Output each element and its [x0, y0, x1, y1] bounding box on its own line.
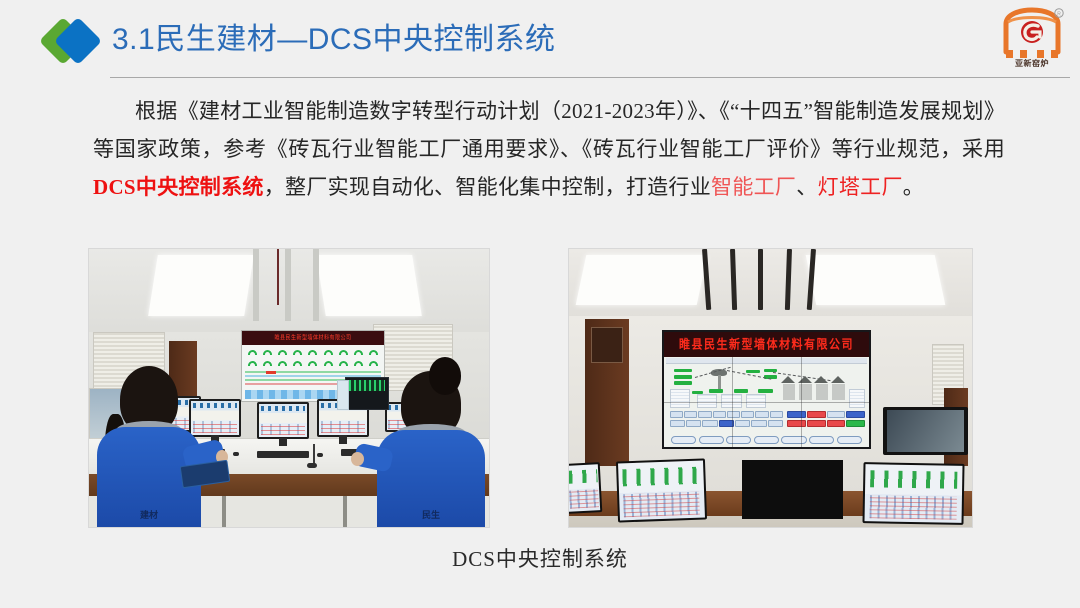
scada-control-button-red: [807, 411, 826, 418]
scada-control-button: [827, 411, 846, 418]
scada-status-tag: [709, 389, 723, 392]
slide-canvas: 3.1民生建材—DCS中央控制系统 R 亚新窑炉 根据《建材工业智能制造数字转型…: [0, 0, 1080, 608]
wall-screen-banner: 睢县民生新型墙体材料有限公司: [242, 331, 384, 345]
video-wall-banner-text: 睢县民生新型墙体材料有限公司: [679, 335, 854, 353]
ceiling-strip-3: [313, 249, 319, 321]
gauge-row: [245, 346, 381, 358]
scada-data-table: [849, 389, 865, 409]
gauge-indicator: [308, 350, 317, 355]
mouse-1: [233, 452, 239, 456]
scada-pipe-vertical: [718, 375, 721, 389]
gauge-indicator: [339, 350, 348, 355]
gauge-indicator: [324, 350, 333, 355]
figure-caption: DCS中央控制系统: [0, 543, 1080, 573]
ceiling-light-panel-left: [148, 255, 254, 316]
desk-leg: [343, 496, 347, 527]
control-room-operators-photo: 睢县民生新型墙体材料有限公司: [88, 248, 490, 528]
scada-status-tag: [758, 389, 772, 392]
ceiling-slat: [758, 249, 763, 310]
operator-right: 民生: [377, 371, 485, 527]
door-window-pane: [591, 327, 623, 363]
operator-right-hair-bun: [429, 357, 461, 394]
scada-control-button-blue: [846, 411, 865, 418]
scada-status-tag: [674, 381, 692, 385]
scada-silo: [832, 384, 844, 400]
gauge-indicator: [248, 350, 257, 355]
gauge-indicator: [263, 361, 272, 366]
desk-leg: [222, 496, 226, 527]
scada-nav-pill: [754, 436, 779, 444]
scada-control-button: [684, 411, 697, 418]
ceiling-strip-2: [285, 249, 291, 321]
scada-nav-pill: [781, 436, 806, 444]
scada-control-button: [698, 411, 711, 418]
scada-control-button: [741, 411, 754, 418]
scada-control-button: [755, 411, 768, 418]
scada-silo: [816, 384, 828, 400]
scada-control-button: [751, 420, 766, 427]
scada-control-button-row-1: [670, 411, 783, 418]
wall-screen-gauge-grid: [245, 346, 381, 370]
gauge-indicator: [324, 361, 333, 366]
scada-control-button: [702, 420, 717, 427]
desk-monitor-screen: [618, 461, 705, 521]
photo-row: 睢县民生新型墙体材料有限公司: [0, 0, 1080, 608]
scada-data-table: [670, 389, 691, 409]
desk-monitor-screen: [568, 464, 600, 512]
gauge-indicator: [293, 361, 302, 366]
ceiling-strip-1: [253, 249, 259, 321]
scada-control-button: [686, 420, 701, 427]
scada-status-tag: [746, 370, 760, 374]
video-wall-banner: 睢县民生新型墙体材料有限公司: [664, 332, 870, 357]
scada-nav-pill: [726, 436, 751, 444]
desk-monitor-screen: [865, 464, 963, 523]
gauge-indicator: [339, 361, 348, 366]
desk-monitor-screen-off: [742, 460, 843, 518]
gauge-indicator: [278, 361, 287, 366]
scada-control-button-row-3: [787, 411, 865, 418]
desk-monitor-4: [863, 462, 965, 525]
scada-control-button-red: [787, 420, 806, 427]
ceiling-light-panel-right: [316, 255, 422, 316]
operator-left: 建材: [97, 366, 201, 527]
desk-microphone-base: [307, 463, 317, 468]
scada-silo: [783, 384, 795, 400]
monitor-stand: [279, 438, 287, 446]
monitor-stand: [339, 435, 347, 443]
scada-nav-pill: [699, 436, 724, 444]
scada-control-button-row-4: [787, 420, 865, 427]
scada-control-button: [768, 420, 783, 427]
desk-monitor-2: [616, 459, 707, 523]
operator-left-back-text: 建材: [97, 508, 201, 521]
scada-nav-pill: [837, 436, 862, 444]
scada-control-button: [713, 411, 726, 418]
wall-screen-banner-text: 睢县民生新型墙体材料有限公司: [274, 333, 351, 342]
scada-control-button-red: [827, 420, 846, 427]
video-wall-scada-photo: 睢县民生新型墙体材料有限公司: [568, 248, 973, 528]
gauge-indicator: [293, 350, 302, 355]
desk-monitor-3-off: [742, 460, 843, 518]
scada-nav-pill: [809, 436, 834, 444]
scada-status-tag: [674, 369, 692, 373]
side-monitor-screen-content: [887, 410, 964, 452]
operator-right-back-text: 民生: [377, 508, 485, 521]
desk-monitor-1: [568, 462, 603, 514]
side-cabinet: [337, 380, 349, 411]
scada-toolbar: [666, 358, 867, 364]
ceiling-light-panel-left: [576, 255, 708, 305]
gauge-indicator: [263, 350, 272, 355]
scada-navigation-pill-row: [670, 436, 863, 444]
gauge-indicator: [354, 350, 363, 355]
scada-control-button-blue: [787, 411, 806, 418]
keyboard-2: [257, 451, 309, 458]
gauge-indicator: [278, 350, 287, 355]
scada-nav-pill: [671, 436, 696, 444]
gauge-indicator: [248, 361, 257, 366]
scada-process-screen: [664, 357, 870, 447]
gauge-row: [245, 358, 381, 370]
ceiling-light-panel-right: [805, 255, 945, 305]
gauge-indicator: [354, 361, 363, 366]
scada-status-tag: [734, 389, 748, 392]
scada-status-tag: [674, 375, 692, 379]
gauge-indicator: [308, 361, 317, 366]
video-wall-seam-horizontal: [664, 402, 870, 403]
ceiling-mic-drop: [277, 249, 279, 305]
monitor-screen: [259, 404, 307, 438]
video-wall-display: 睢县民生新型墙体材料有限公司: [662, 330, 872, 450]
scada-control-button: [770, 411, 783, 418]
operator-right-uniform: 民生: [377, 430, 485, 527]
scada-control-button-green: [846, 420, 865, 427]
scada-control-button: [670, 420, 685, 427]
gauge-indicator: [369, 361, 378, 366]
scada-control-button: [727, 411, 740, 418]
operator-monitor-3: [257, 402, 309, 440]
scada-control-button: [735, 420, 750, 427]
scada-control-button-red: [807, 420, 826, 427]
wall-screen-alarm-marker: [266, 371, 276, 374]
scada-control-button-row-2: [670, 420, 783, 427]
gauge-indicator: [369, 350, 378, 355]
scada-control-button: [670, 411, 683, 418]
